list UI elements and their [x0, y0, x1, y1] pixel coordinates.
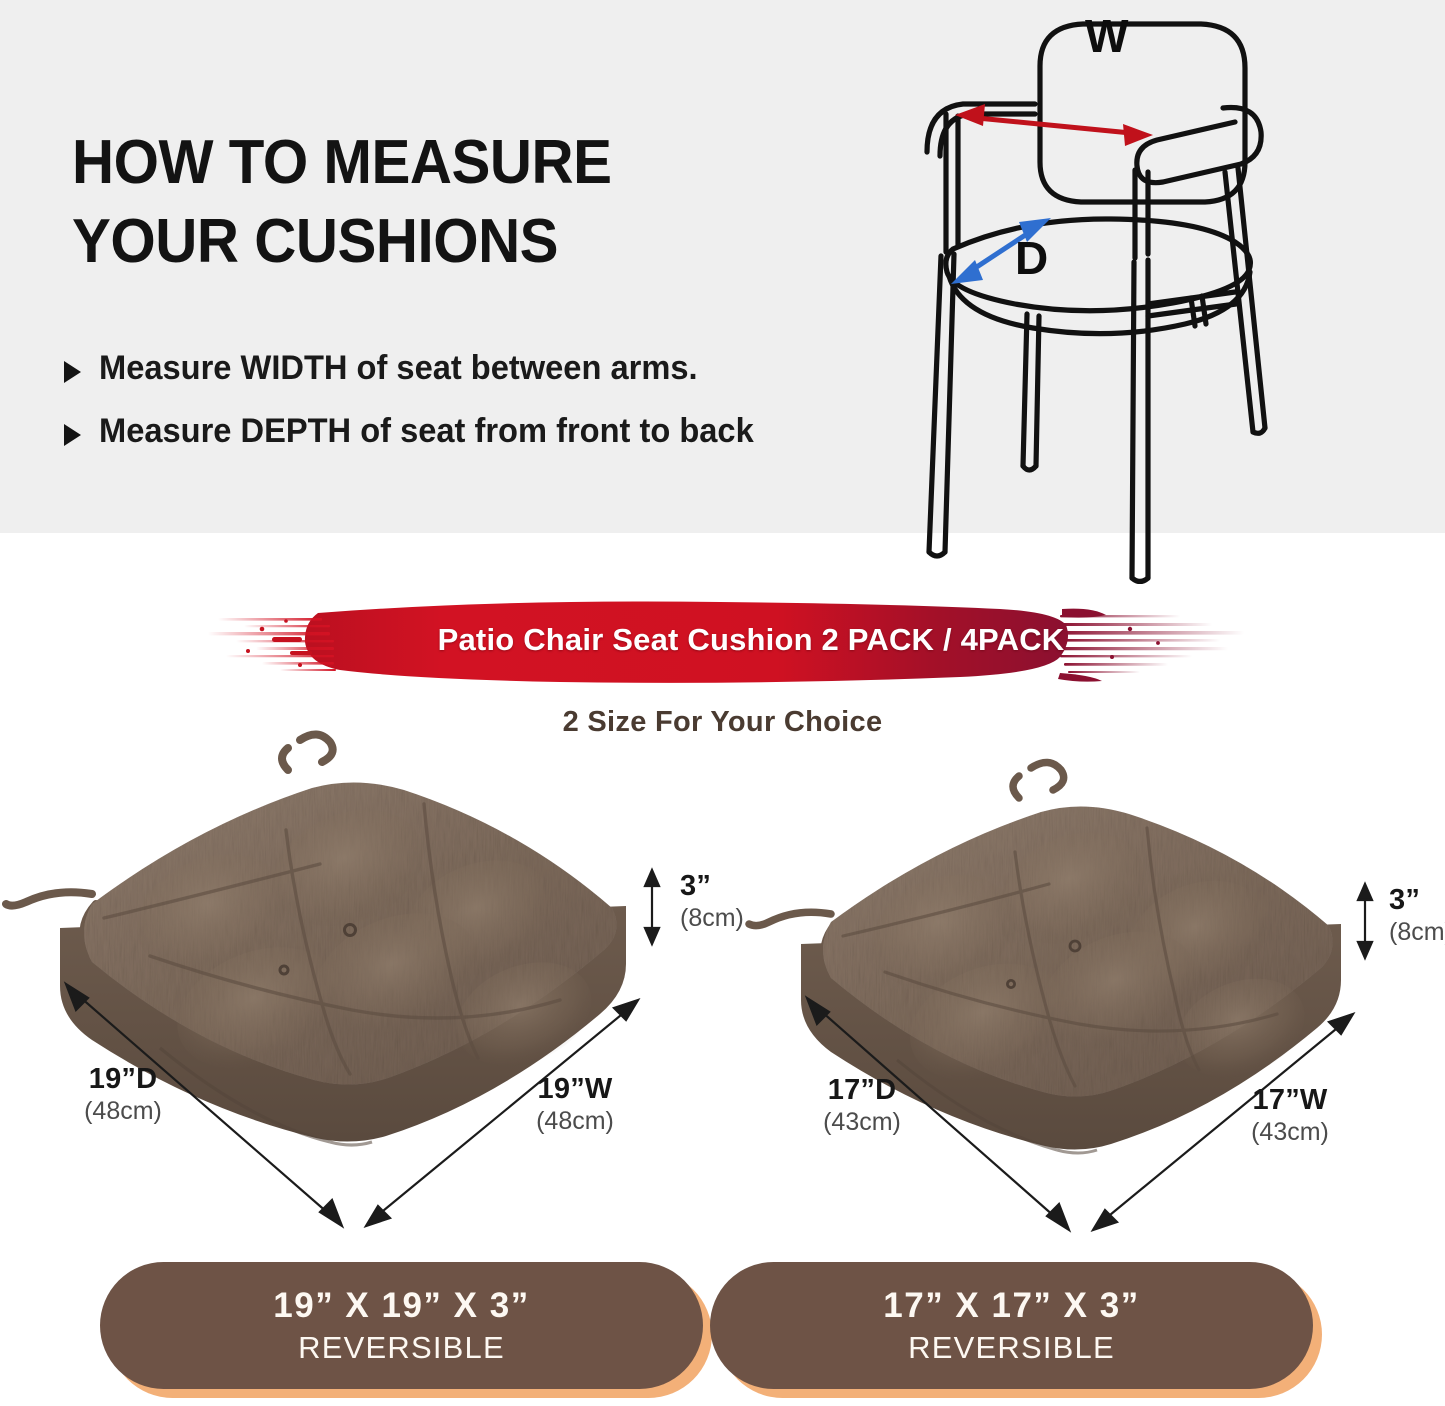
measure-instructions-list: Measure WIDTH of seat between arms. Meas…: [64, 348, 884, 474]
page-title-line-2: YOUR CUSHIONS: [72, 207, 558, 276]
brush-stroke-shape: [200, 585, 1270, 695]
depth-value: 19”D: [48, 1063, 198, 1095]
list-item: Measure WIDTH of seat between arms.: [64, 348, 884, 389]
width-label: W: [1085, 10, 1129, 62]
chair-illustration-icon: W D: [905, 4, 1325, 584]
badge-reversible-label: REVERSIBLE: [298, 1332, 505, 1363]
depth-dimension-17: 17”D (43cm): [787, 1074, 937, 1136]
width-dimension-17: 17”W (43cm): [1215, 1084, 1365, 1146]
badge-size-title: 17” X 17” X 3”: [883, 1288, 1139, 1323]
badge-body[interactable]: 19” X 19” X 3” REVERSIBLE: [100, 1262, 703, 1389]
cushion-illustration-icon: [0, 718, 720, 1263]
badge-size-title: 19” X 19” X 3”: [273, 1288, 529, 1323]
cushion-17-figure: 17”D (43cm) 17”W (43cm) 3” (8cm): [735, 742, 1435, 1267]
depth-metric: (43cm): [787, 1108, 937, 1136]
depth-value: 17”D: [787, 1074, 937, 1106]
badge-body[interactable]: 17” X 17” X 3” REVERSIBLE: [710, 1262, 1313, 1389]
cushion-19-figure: 19”D (48cm) 19”W (48cm) 3” (8cm): [0, 718, 720, 1263]
triangle-bullet-icon: [64, 424, 81, 446]
depth-label: D: [1015, 232, 1048, 284]
list-item: Measure DEPTH of seat from front to back: [64, 411, 884, 452]
width-value: 17”W: [1215, 1084, 1365, 1116]
triangle-bullet-icon: [64, 361, 81, 383]
chair-measurement-diagram: W D: [905, 4, 1325, 584]
height-metric: (8cm): [1389, 918, 1445, 946]
size-badge-17[interactable]: 17” X 17” X 3” REVERSIBLE: [710, 1262, 1322, 1398]
promo-banner: Patio Chair Seat Cushion 2 PACK / 4PACK: [200, 585, 1270, 695]
instruction-depth: Measure DEPTH of seat from front to back: [99, 411, 754, 452]
width-value: 19”W: [500, 1073, 650, 1105]
width-arrow-icon: [955, 104, 1153, 146]
badge-reversible-label: REVERSIBLE: [908, 1332, 1115, 1363]
instruction-width: Measure WIDTH of seat between arms.: [99, 348, 698, 389]
depth-dimension-19: 19”D (48cm): [48, 1063, 198, 1125]
page-title: HOW TO MEASURE YOUR CUSHIONS: [72, 124, 730, 281]
width-metric: (43cm): [1215, 1118, 1365, 1146]
size-badge-19[interactable]: 19” X 19” X 3” REVERSIBLE: [100, 1262, 712, 1398]
height-dimension-17: 3” (8cm): [1389, 884, 1445, 946]
height-value: 3”: [1389, 884, 1445, 916]
depth-metric: (48cm): [48, 1097, 198, 1125]
cushion-illustration-icon: [735, 742, 1435, 1267]
width-dimension-19: 19”W (48cm): [500, 1073, 650, 1135]
page-title-line-1: HOW TO MEASURE: [72, 128, 612, 197]
width-metric: (48cm): [500, 1107, 650, 1135]
